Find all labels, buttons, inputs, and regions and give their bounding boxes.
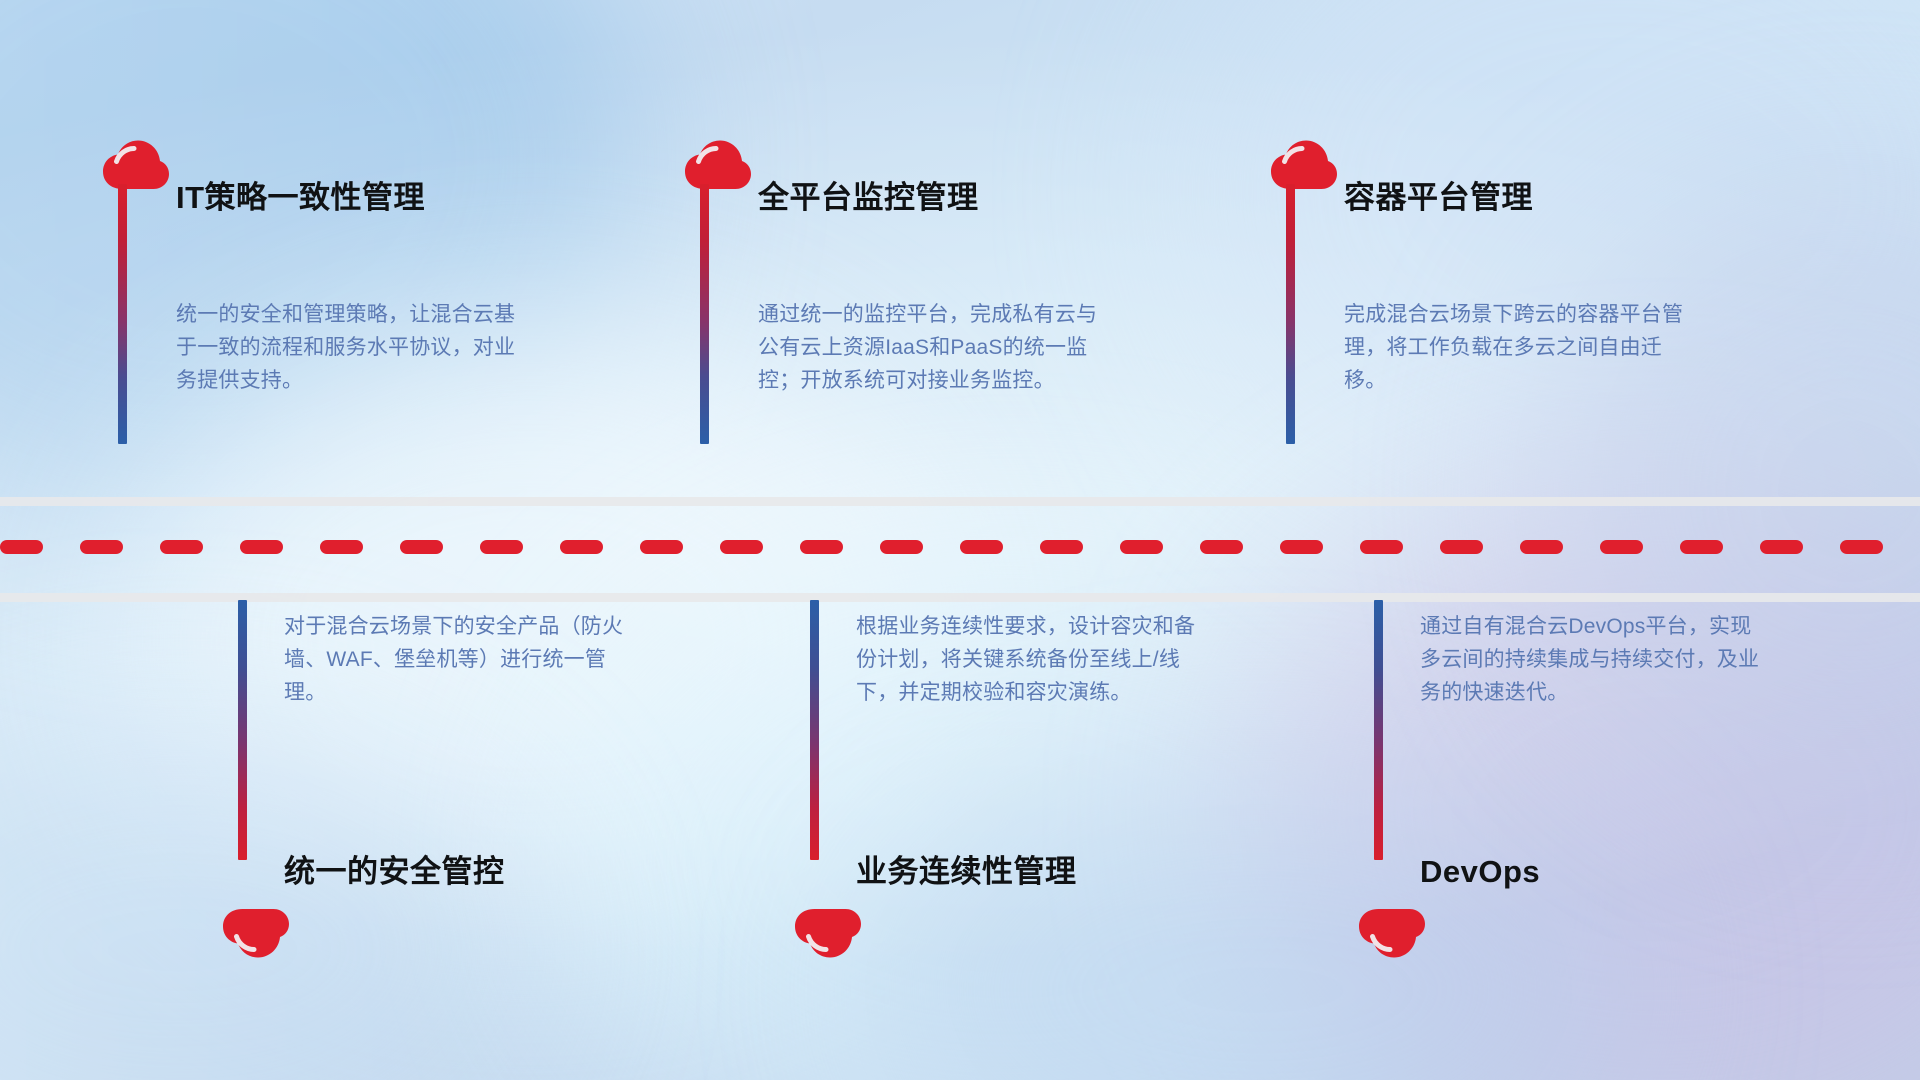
item-description: 对于混合云场景下的安全产品（防火墙、WAF、堡垒机等）进行统一管理。 (284, 610, 634, 709)
dash-segment (1360, 540, 1403, 554)
item-heading: 全平台监控管理 (758, 182, 979, 213)
dash-segment (640, 540, 683, 554)
timeline-stem (1374, 600, 1383, 860)
item-heading: 容器平台管理 (1344, 182, 1533, 213)
dash-segment (1200, 540, 1243, 554)
divider-bar-lower (0, 593, 1920, 602)
dash-segment (1440, 540, 1483, 554)
item-heading: IT策略一致性管理 (176, 182, 425, 213)
dash-segment (240, 540, 283, 554)
dash-segment (1760, 540, 1803, 554)
item-description: 完成混合云场景下跨云的容器平台管理，将工作负载在多云之间自由迁移。 (1344, 298, 1694, 397)
dash-segment (320, 540, 363, 554)
item-description: 统一的安全和管理策略，让混合云基于一致的流程和服务水平协议，对业务提供支持。 (176, 298, 526, 397)
item-description: 通过统一的监控平台，完成私有云与公有云上资源IaaS和PaaS的统一监控；开放系… (758, 298, 1108, 397)
item-heading: DevOps (1420, 856, 1540, 887)
dash-segment (1280, 540, 1323, 554)
infographic-canvas: IT策略一致性管理 统一的安全和管理策略，让混合云基于一致的流程和服务水平协议，… (0, 0, 1920, 1080)
dashed-separator (0, 540, 1920, 554)
dash-segment (1680, 540, 1723, 554)
dash-segment (880, 540, 923, 554)
dash-segment (1040, 540, 1083, 554)
dash-segment (480, 540, 523, 554)
timeline-stem (700, 184, 709, 444)
cloud-icon (1358, 908, 1426, 958)
dash-segment (720, 540, 763, 554)
dash-segment (80, 540, 123, 554)
dash-segment (0, 540, 43, 554)
item-description: 根据业务连续性要求，设计容灾和备份计划，将关键系统备份至线上/线下，并定期校验和… (856, 610, 1206, 709)
dash-segment (800, 540, 843, 554)
cloud-icon (102, 140, 170, 190)
cloud-icon (222, 908, 290, 958)
timeline-stem (810, 600, 819, 860)
item-heading: 业务连续性管理 (856, 856, 1077, 887)
dash-segment (1520, 540, 1563, 554)
timeline-stem (1286, 184, 1295, 444)
dash-segment (1120, 540, 1163, 554)
dash-segment (400, 540, 443, 554)
dash-segment (1600, 540, 1643, 554)
item-heading: 统一的安全管控 (284, 856, 505, 887)
dash-segment (560, 540, 603, 554)
dash-segment (1840, 540, 1883, 554)
cloud-icon (684, 140, 752, 190)
cloud-icon (794, 908, 862, 958)
item-description: 通过自有混合云DevOps平台，实现多云间的持续集成与持续交付，及业务的快速迭代… (1420, 610, 1770, 709)
timeline-stem (118, 184, 127, 444)
dash-segment (160, 540, 203, 554)
timeline-stem (238, 600, 247, 860)
cloud-icon (1270, 140, 1338, 190)
divider-bar-upper (0, 497, 1920, 506)
dash-segment (960, 540, 1003, 554)
